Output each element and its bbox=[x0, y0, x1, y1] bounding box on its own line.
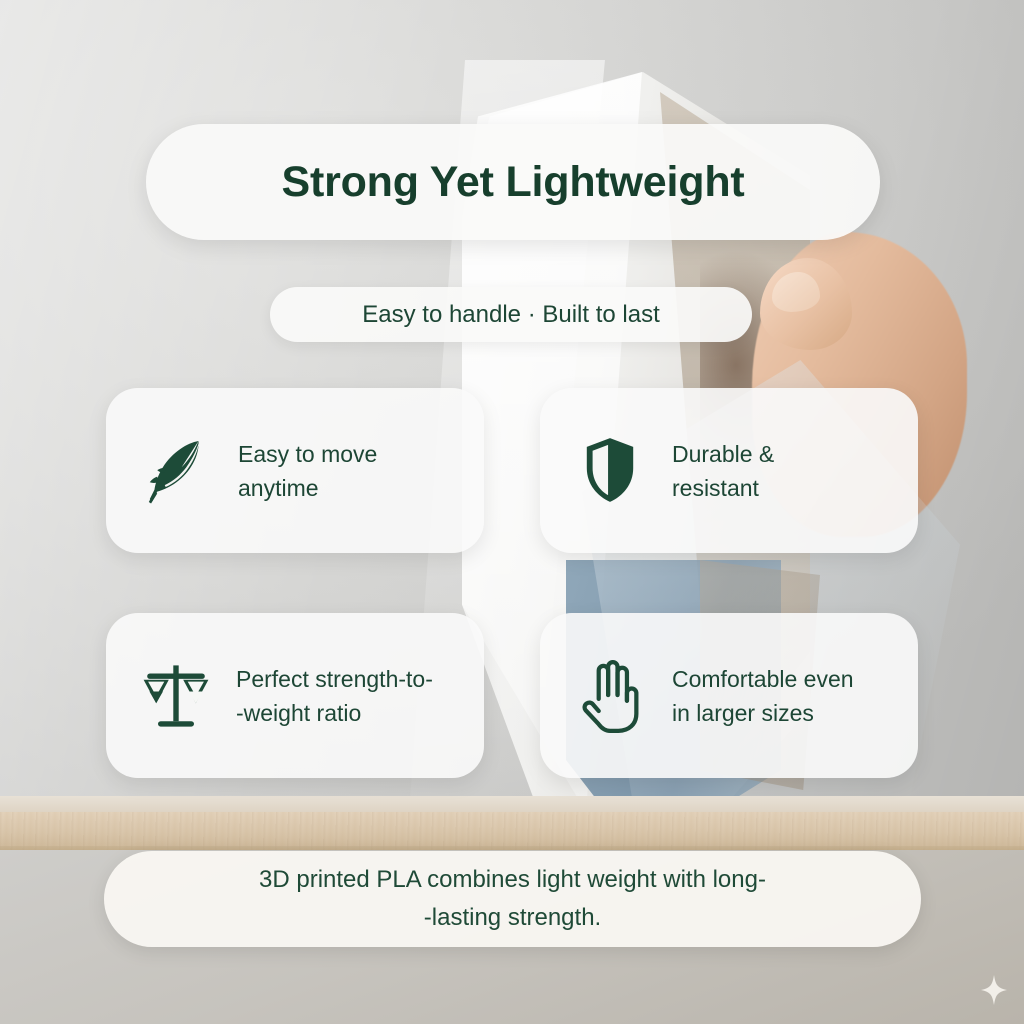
footer-text-line2: -lasting strength. bbox=[259, 899, 766, 937]
poster-canvas: Strong Yet Lightweight Easy to handle · … bbox=[0, 0, 1024, 1024]
feather-icon bbox=[140, 430, 212, 512]
feature-label-group: Durable & resistant bbox=[672, 437, 774, 505]
feature-label-line2: -weight ratio bbox=[236, 696, 433, 730]
feature-label-line2: in larger sizes bbox=[672, 696, 854, 730]
feature-card-durable-resistant[interactable]: Durable & resistant bbox=[540, 388, 918, 553]
feature-label-group: Comfortable even in larger sizes bbox=[672, 662, 854, 730]
open-hand-icon bbox=[574, 655, 646, 737]
balance-scale-icon bbox=[140, 655, 212, 737]
feature-label-line1: Durable & bbox=[672, 437, 774, 471]
feature-card-easy-to-move[interactable]: Easy to move anytime bbox=[106, 388, 484, 553]
feature-label-line1: Perfect strength-to- bbox=[236, 662, 433, 696]
footer-text-group: 3D printed PLA combines light weight wit… bbox=[259, 861, 766, 937]
shield-icon bbox=[574, 430, 646, 512]
feature-label-line1: Easy to move bbox=[238, 437, 377, 471]
feature-label-line2: resistant bbox=[672, 471, 774, 505]
feature-card-comfortable-sizes[interactable]: Comfortable even in larger sizes bbox=[540, 613, 918, 778]
footer-banner: 3D printed PLA combines light weight wit… bbox=[104, 851, 921, 947]
footer-text-line1: 3D printed PLA combines light weight wit… bbox=[259, 861, 766, 899]
feature-label-group: Perfect strength-to- -weight ratio bbox=[238, 662, 433, 730]
feature-card-strength-to-weight[interactable]: Perfect strength-to- -weight ratio bbox=[106, 613, 484, 778]
feature-label-line2: anytime bbox=[238, 471, 377, 505]
feature-label-line1: Comfortable even bbox=[672, 662, 854, 696]
sparkle-icon bbox=[981, 975, 1007, 1005]
feature-label-group: Easy to move anytime bbox=[238, 437, 377, 505]
